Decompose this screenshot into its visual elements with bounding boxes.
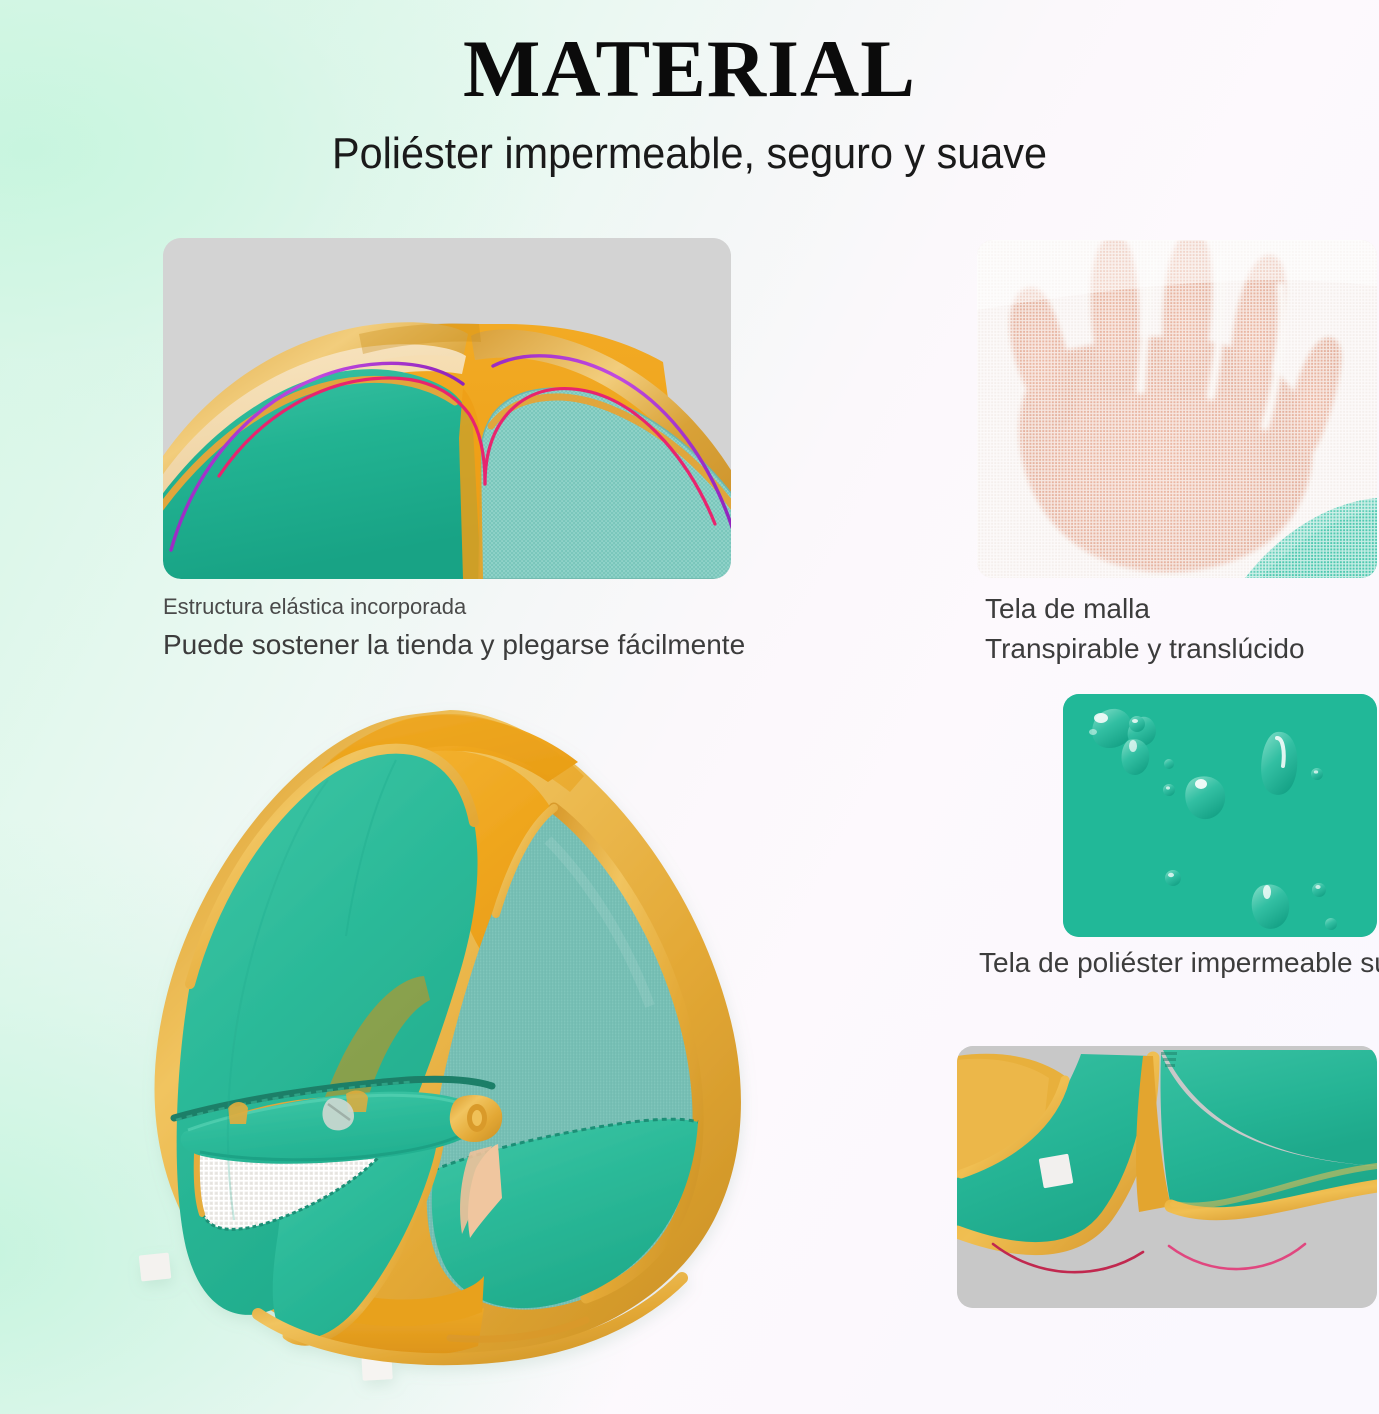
water-droplets-on-fabric-photo [1063,694,1377,937]
elastic-frame-caption: Estructura elástica incorporada Puede so… [163,592,745,663]
elastic-frame-caption-line1: Estructura elástica incorporada [163,592,745,622]
waterproof-caption-text: Tela de poliéster impermeable suave [979,944,1379,982]
mesh-fabric-caption-line2: Transpirable y translúcido [985,630,1305,668]
infographic-page: MATERIAL Poliéster impermeable, seguro y… [0,0,1379,1414]
waterproof-caption: Tela de poliéster impermeable suave [979,944,1379,982]
header: MATERIAL Poliéster impermeable, seguro y… [0,26,1379,178]
page-title: MATERIAL [0,26,1379,112]
elastic-frame-caption-line2: Puede sostener la tienda y plegarse fáci… [163,626,745,664]
pop-up-play-tent-photo [78,700,784,1406]
tent-top-elastic-frame-photo [163,238,731,579]
mesh-fabric-caption-line1: Tela de malla [985,590,1305,628]
page-subtitle: Poliéster impermeable, seguro y suave [41,130,1337,178]
mesh-fabric-caption: Tela de malla Transpirable y translúcido [985,590,1305,668]
mesh-fabric-hand-photo [977,240,1377,578]
tent-hem-detail-photo [957,1046,1377,1308]
